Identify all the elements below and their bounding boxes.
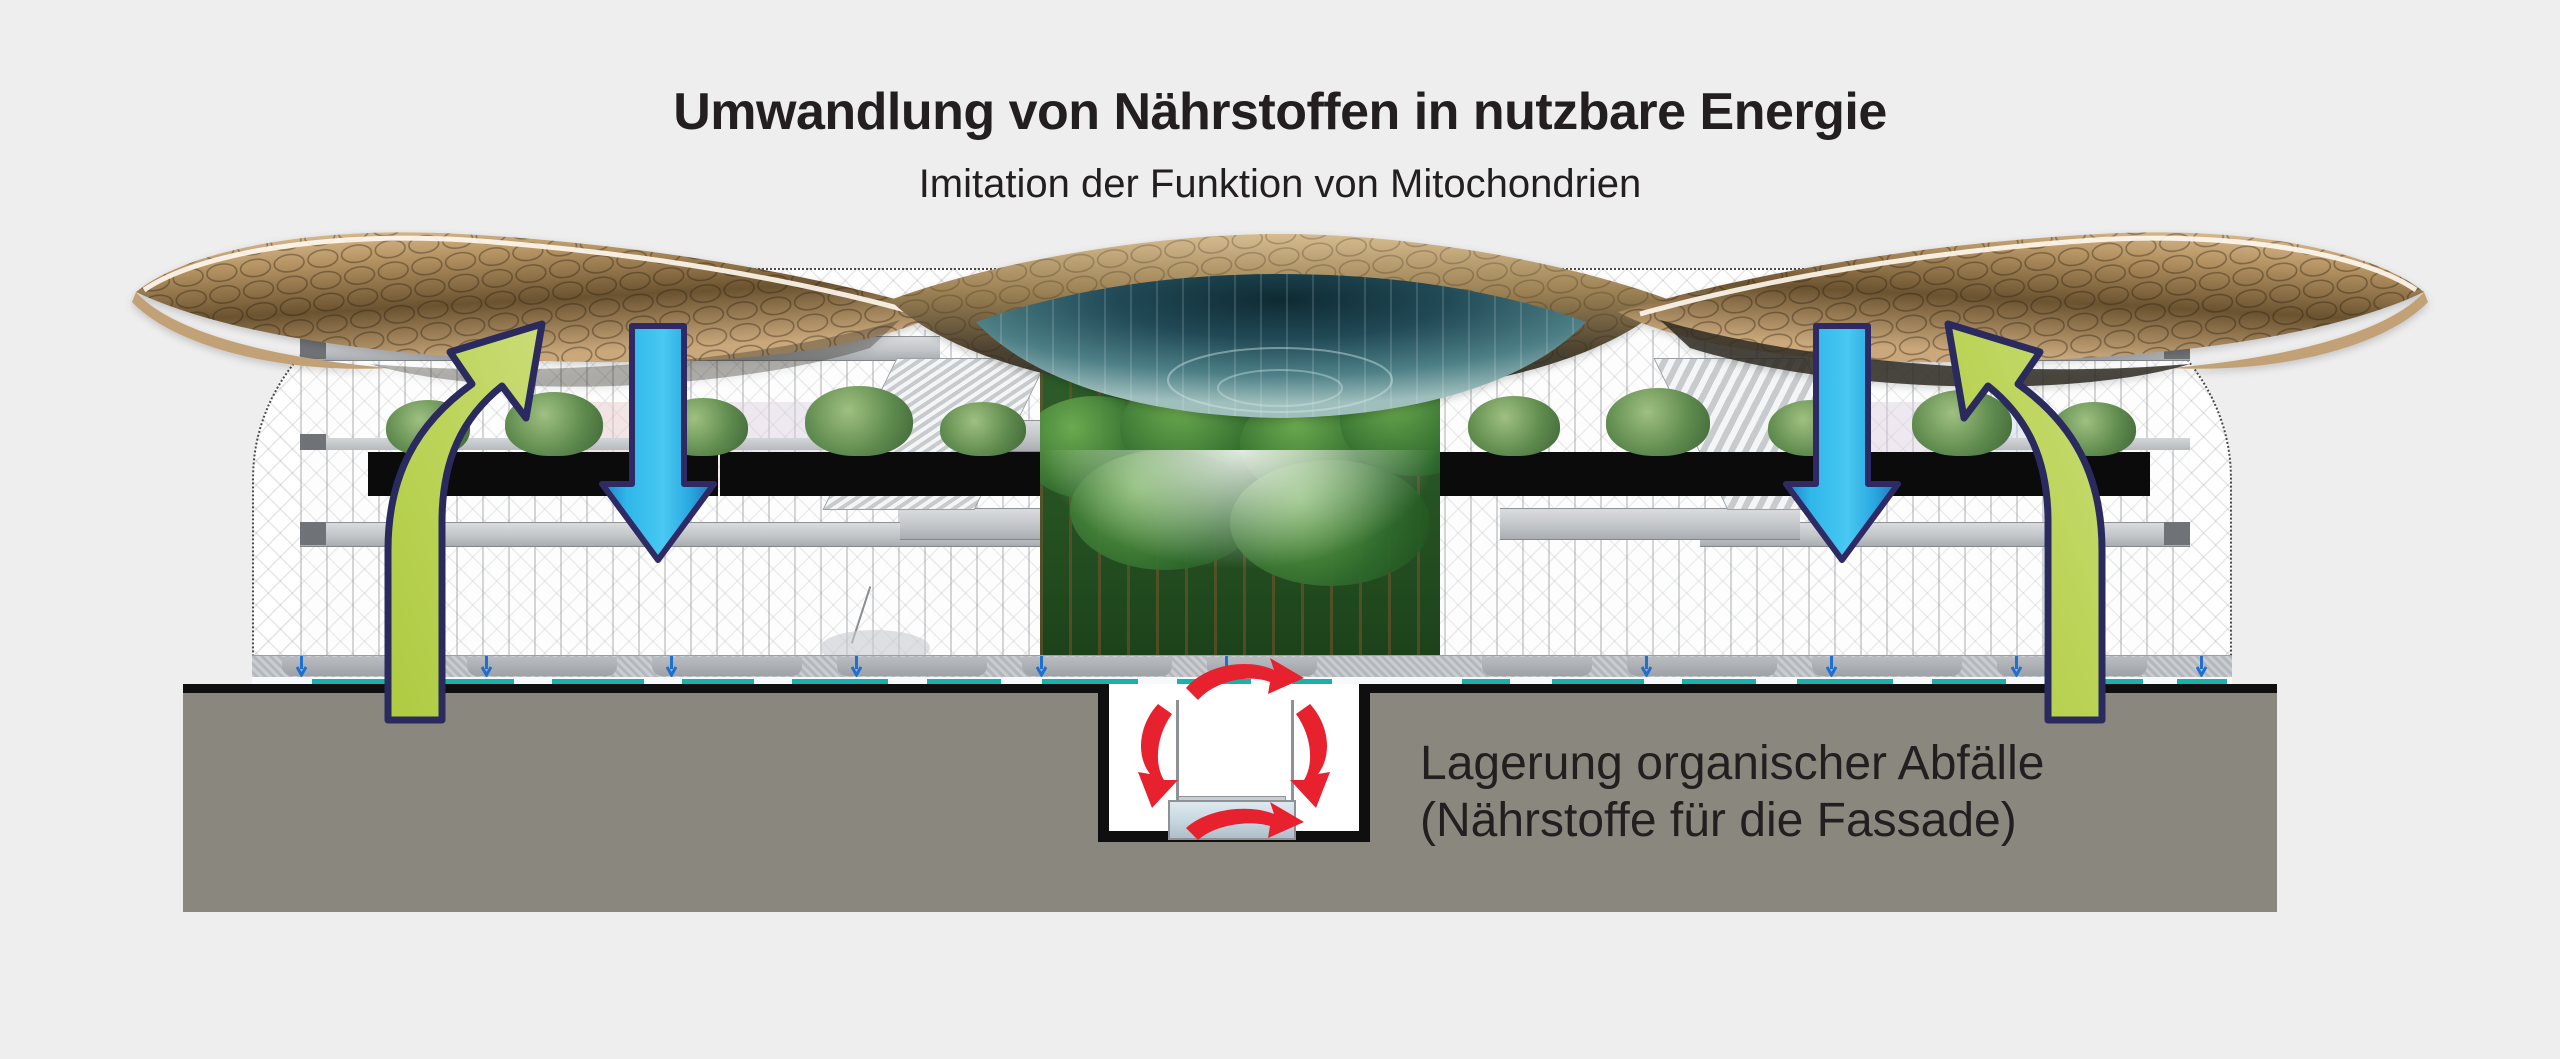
ground-caption-line-1: Lagerung organischer Abfälle	[1420, 737, 2044, 790]
slab-end-cap	[2164, 522, 2190, 545]
drain-arrow-icon	[1641, 656, 1652, 677]
nutrient-loop-arrows	[1098, 652, 1378, 852]
red-arrow-bottom	[1186, 802, 1304, 840]
red-arrow-left	[1138, 704, 1178, 808]
red-arrow-top	[1186, 658, 1304, 700]
slab-end-cap	[300, 522, 326, 545]
drain-arrow-icon	[2196, 656, 2207, 677]
ground-caption-line-2: (Nährstoffe für die Fassade)	[1420, 793, 2420, 850]
ground-caption: Lagerung organischer Abfälle (Nährstoffe…	[1420, 736, 2420, 849]
diagram-canvas: Umwandlung von Nährstoffen in nutzbare E…	[0, 0, 2560, 1059]
drain-arrow-icon	[1826, 656, 1837, 677]
drain-arrow-icon	[666, 656, 677, 677]
drain-arrow-icon	[1036, 656, 1047, 677]
input-flow-arrow-left	[588, 318, 728, 568]
podium-slab	[1500, 508, 1800, 540]
drain-arrow-icon	[296, 656, 307, 677]
energy-flow-arrow-right	[1880, 300, 2160, 720]
page-title: Umwandlung von Nährstoffen in nutzbare E…	[0, 86, 2560, 138]
drain-arrow-icon	[851, 656, 862, 677]
red-arrow-right	[1290, 704, 1330, 808]
energy-flow-arrow-left	[330, 300, 610, 720]
page-subtitle: Imitation der Funktion von Mitochondrien	[0, 164, 2560, 204]
input-flow-arrow-right	[1772, 318, 1912, 568]
